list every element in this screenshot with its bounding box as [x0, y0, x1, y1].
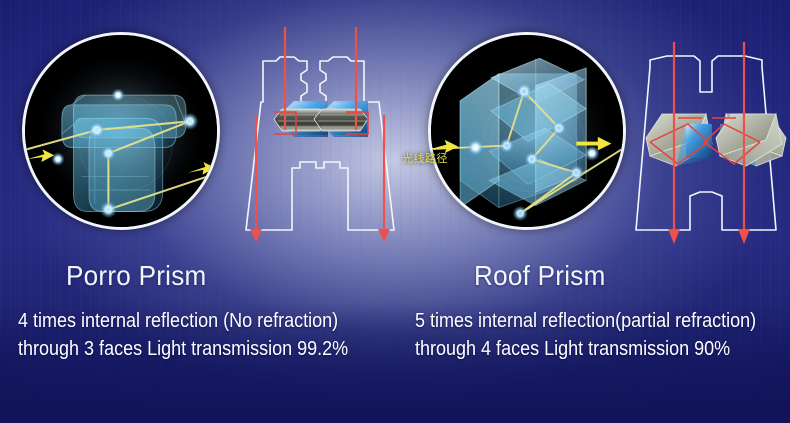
- porro-binocular-svg: [228, 18, 413, 262]
- porro-binocular-diagram: [228, 18, 413, 262]
- roof-prism-illustration: [428, 32, 626, 230]
- porro-caption-line-1: 4 times internal reflection (No refracti…: [18, 307, 338, 335]
- porro-panel-title: Porro Prism: [66, 260, 207, 292]
- outgoing-arrowhead-left: [668, 229, 680, 244]
- roof-caption-line-2: through 4 faces Light transmission 90%: [415, 335, 730, 363]
- outgoing-arrowhead-left: [250, 229, 262, 242]
- outgoing-arrowhead-right: [378, 229, 390, 242]
- roof-panel-title: Roof Prism: [474, 260, 606, 292]
- roof-prism-svg: [431, 35, 623, 227]
- porro-prism-illustration: [22, 32, 220, 230]
- roof-binocular-diagram: [612, 18, 790, 262]
- roof-caption-line-1: 5 times internal reflection(partial refr…: [415, 307, 756, 335]
- porro-prism-svg: [25, 35, 217, 227]
- ray-path-label-cn: 光线路径: [402, 150, 448, 166]
- roof-binocular-svg: [612, 18, 790, 262]
- infographic-canvas: 光线路径: [0, 0, 790, 423]
- outgoing-arrowhead-right: [738, 229, 750, 244]
- porro-caption-line-2: through 3 faces Light transmission 99.2%: [18, 335, 348, 363]
